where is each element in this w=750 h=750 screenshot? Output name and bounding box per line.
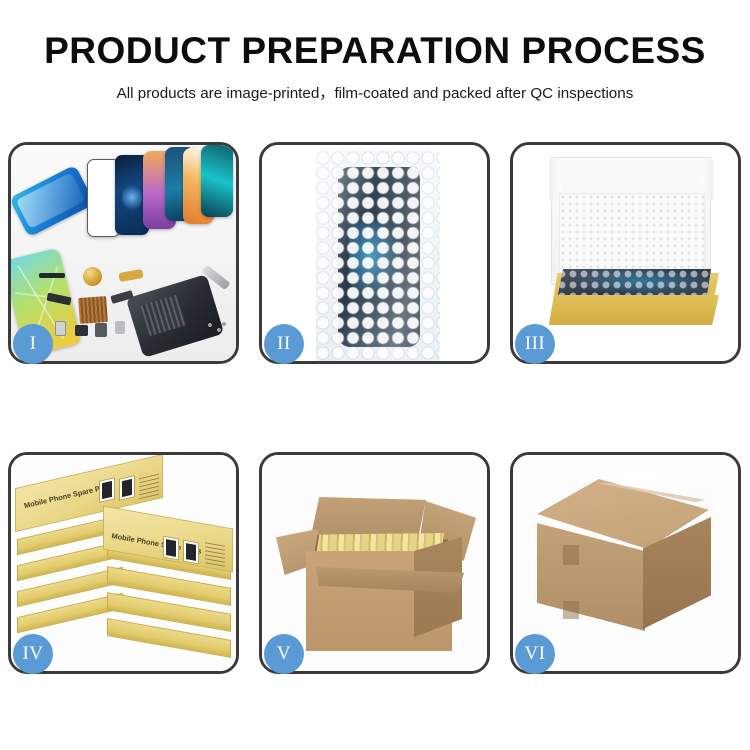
step-badge-3: III <box>515 324 555 364</box>
process-step-grid: I II III <box>8 142 742 674</box>
retail-box-screen-thumb-1 <box>99 477 115 503</box>
process-step-card-5: V <box>259 452 490 674</box>
retail-box-screen-thumb-2 <box>119 475 135 501</box>
copper-chip-image <box>78 296 108 324</box>
retail-box-screen-thumb-4 <box>183 540 199 565</box>
phone-backplate-image <box>126 274 224 358</box>
blue-screen-assembly-image <box>11 165 95 238</box>
process-step-card-3: III <box>510 142 741 364</box>
bubble-wrap-sleeve-image <box>316 151 440 361</box>
process-step-card-6: VI <box>510 452 741 674</box>
screws-image <box>207 321 227 335</box>
teal-display-image <box>201 145 233 217</box>
small-part-image-1 <box>55 321 66 336</box>
step-badge-5: V <box>264 634 304 674</box>
retail-box-checklist-2 <box>205 539 225 567</box>
carton-hand-hole-2 <box>563 601 579 619</box>
gold-connector-image <box>83 267 102 286</box>
plastic-sheen <box>316 151 440 361</box>
carton-hand-hole-1 <box>563 545 579 565</box>
flex-cable-image-2 <box>118 269 143 282</box>
small-part-image-4 <box>115 321 125 334</box>
step-badge-2: II <box>264 324 304 364</box>
page-title: PRODUCT PREPARATION PROCESS <box>0 30 750 73</box>
process-step-card-2: II <box>259 142 490 364</box>
inner-box-tray-front <box>549 295 719 325</box>
step-badge-1: I <box>13 324 53 364</box>
retail-box-screen-thumb-3 <box>163 536 179 561</box>
step-badge-6: VI <box>515 634 555 674</box>
step-badge-4: IV <box>13 634 53 674</box>
flex-cable-image-1 <box>39 273 65 278</box>
small-part-image-2 <box>75 325 88 336</box>
foam-padding-image <box>559 193 705 277</box>
packed-parts-image <box>557 269 711 299</box>
process-step-card-4: Mobile Phone Spare Parts Mobile Phone Sp… <box>8 452 239 674</box>
page-subtitle: All products are image-printed，film-coat… <box>0 81 750 103</box>
header: PRODUCT PREPARATION PROCESS All products… <box>0 0 750 103</box>
product-preparation-infographic: PRODUCT PREPARATION PROCESS All products… <box>0 0 750 750</box>
process-step-card-1: I <box>8 142 239 364</box>
small-part-image-3 <box>95 323 107 337</box>
retail-box-checklist-1 <box>139 471 159 500</box>
